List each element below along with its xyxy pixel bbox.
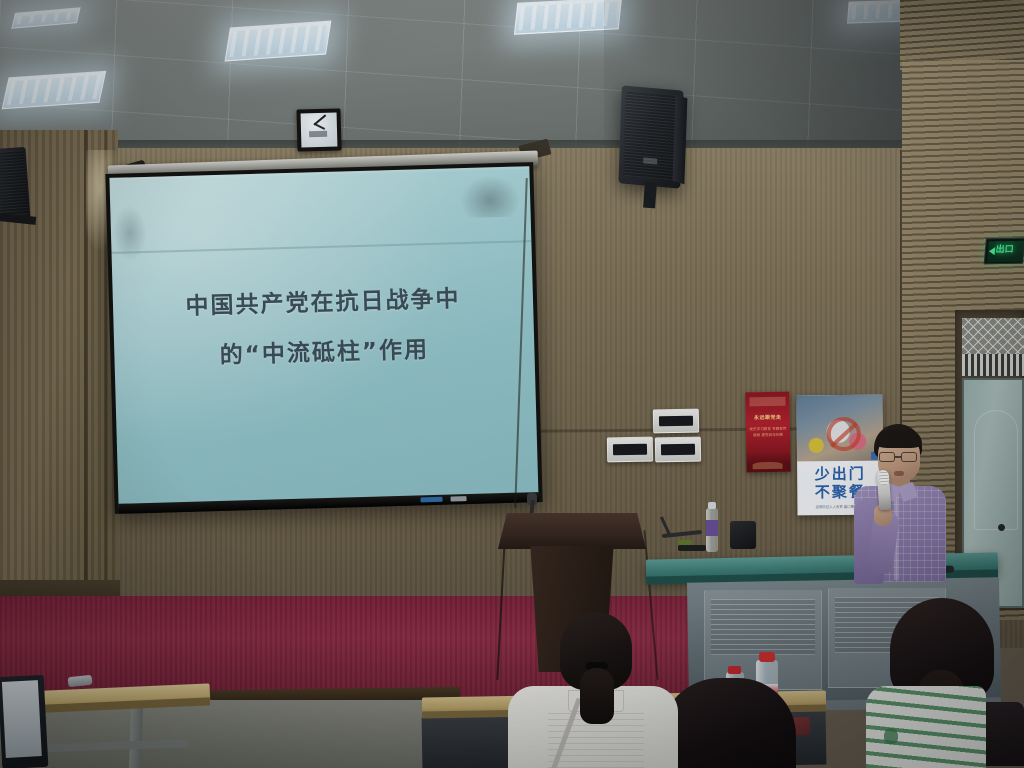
clock-brand-plate (309, 131, 327, 137)
screen-indicator-light (420, 497, 442, 503)
desk-monitor[interactable] (0, 675, 48, 768)
vent-louvers-icon (711, 599, 815, 655)
person-hair (660, 678, 796, 768)
poster-header-band (749, 397, 785, 407)
panel-window (659, 416, 693, 427)
audience-person-a (508, 612, 678, 768)
person-ponytail (580, 668, 614, 724)
desk-leg (129, 706, 143, 768)
desk-microphone-base (678, 545, 706, 551)
speaker-grille-icon (623, 92, 680, 181)
presenter-hair-front (876, 430, 922, 448)
audio-device[interactable] (730, 521, 756, 549)
window-louvers (962, 354, 1024, 376)
speaker-logo (643, 157, 657, 164)
screen-indicator-light (450, 496, 466, 501)
bottle-cap-icon (759, 652, 775, 662)
bottle-cap-icon (728, 666, 741, 674)
exit-sign-text: 出口 (986, 242, 1024, 256)
glasses-icon (901, 452, 917, 462)
podium-top (498, 513, 646, 549)
audience-person-d (866, 686, 986, 768)
poster-red-body: 党史学习教育 专题宣传展板 建党百年庆典 (749, 426, 787, 439)
bottle-label (706, 520, 718, 536)
electrical-panel-left[interactable] (607, 437, 653, 463)
slide-title: 中国共产党在抗日战争中 的“中流砥柱”作用 (112, 272, 535, 384)
poster-boat-graphic-icon (753, 462, 783, 470)
glasses-icon (879, 452, 895, 462)
screen-shadow-mark (112, 205, 148, 262)
audience-person-b (660, 678, 800, 768)
screen-shadow-mark (460, 174, 521, 218)
electrical-panel-upper[interactable] (653, 409, 699, 434)
monitor-screen (2, 680, 42, 758)
door-knob-icon[interactable] (998, 524, 1005, 531)
microphone-grille-icon (879, 471, 890, 486)
mesh-grille-icon (962, 318, 1024, 356)
presenter (852, 424, 948, 579)
speaker-grille-icon (0, 150, 28, 216)
lecture-hall-photo: 中国共产党在抗日战争中 的“中流砥柱”作用 永远跟党走 党史学习教育 专题宣传展… (0, 0, 1024, 768)
presenter-mouth (894, 471, 904, 476)
poster-red-title: 永远跟党走 (746, 414, 790, 422)
projection-screen-surface: 中国共产党在抗日战争中 的“中流砥柱”作用 (109, 166, 538, 508)
shirt-stripe-pattern (866, 686, 986, 768)
electrical-panel-right[interactable] (655, 437, 701, 463)
projection-screen: 中国共产党在抗日战争中 的“中流砥柱”作用 (105, 162, 542, 514)
pa-speaker-left (0, 147, 30, 221)
bottle-cap-icon (708, 502, 716, 509)
door-transom-window (962, 318, 1024, 376)
door-embossing (974, 410, 1018, 530)
wall-clock (296, 108, 341, 151)
pa-speaker-right (618, 85, 683, 188)
exit-sign: 出口 (984, 238, 1024, 265)
panel-window (661, 444, 695, 456)
speaker-mount-bracket (643, 182, 657, 209)
shirt-logo-icon (884, 728, 898, 744)
glasses-bridge-icon (895, 456, 901, 458)
panel-window (613, 444, 647, 456)
presentation-remote[interactable] (678, 540, 692, 545)
poster-red-party: 永远跟党走 党史学习教育 专题宣传展板 建党百年庆典 (745, 392, 790, 473)
